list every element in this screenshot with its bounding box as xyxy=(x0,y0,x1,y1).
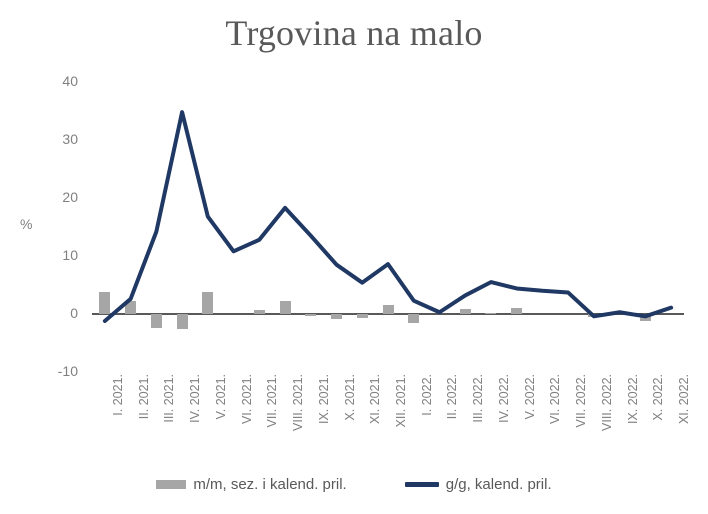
line-series-g-g xyxy=(92,82,684,372)
x-axis-tick-label: I. 2021. xyxy=(111,374,125,416)
chart-legend: m/m, sez. i kalend. pril.g/g, kalend. pr… xyxy=(0,476,708,493)
y-axis-tick-label: 20 xyxy=(32,189,78,205)
x-axis-tick-label: VII. 2022. xyxy=(574,374,588,428)
legend-line-swatch-icon xyxy=(405,482,439,487)
legend-item-label: g/g, kalend. pril. xyxy=(446,476,552,493)
x-axis-tick-label: IX. 2022. xyxy=(626,374,640,424)
x-axis-tick-label: XI. 2021. xyxy=(368,374,382,424)
legend-item[interactable]: m/m, sez. i kalend. pril. xyxy=(156,476,346,493)
x-axis-tick-label: II. 2022. xyxy=(445,374,459,419)
x-axis-tick-labels: I. 2021.II. 2021.III. 2021.IV. 2021.V. 2… xyxy=(92,374,684,470)
plot-area xyxy=(92,82,684,372)
x-axis-tick-label: XII. 2021. xyxy=(394,374,408,428)
x-axis-tick-label: IX. 2021. xyxy=(317,374,331,424)
x-axis-tick-label: X. 2021. xyxy=(343,374,357,421)
x-axis-tick-label: X. 2022. xyxy=(651,374,665,421)
x-axis-tick-label: VIII. 2021. xyxy=(291,374,305,431)
legend-item-label: m/m, sez. i kalend. pril. xyxy=(193,476,346,493)
x-axis-tick-label: VI. 2022. xyxy=(548,374,562,424)
chart-container: Trgovina na malo % 403020100-10 I. 2021.… xyxy=(0,0,708,514)
x-axis-tick-label: III. 2021. xyxy=(162,374,176,423)
y-axis-tick-label: 0 xyxy=(32,305,78,321)
y-axis-tick-label: 40 xyxy=(32,73,78,89)
x-axis-tick-label: I. 2022. xyxy=(420,374,434,416)
x-axis-tick-label: VI. 2021. xyxy=(240,374,254,424)
x-axis-tick-label: V. 2021. xyxy=(214,374,228,419)
x-axis-tick-label: XI. 2022. xyxy=(677,374,691,424)
x-axis-tick-label: VIII. 2022. xyxy=(600,374,614,431)
legend-item[interactable]: g/g, kalend. pril. xyxy=(405,476,552,493)
x-axis-tick-label: IV. 2022. xyxy=(497,374,511,423)
y-axis-unit-label: % xyxy=(20,216,32,232)
line-series-path xyxy=(105,112,671,321)
x-axis-tick-label: V. 2022. xyxy=(523,374,537,419)
legend-bar-swatch-icon xyxy=(156,480,186,489)
x-axis-tick-label: IV. 2021. xyxy=(188,374,202,423)
y-axis-tick-label: -10 xyxy=(32,363,78,379)
x-axis-tick-label: VII. 2021. xyxy=(265,374,279,428)
chart-title: Trgovina na malo xyxy=(0,12,708,54)
x-axis-tick-label: II. 2021. xyxy=(137,374,151,419)
x-axis-tick-label: III. 2022. xyxy=(471,374,485,423)
y-axis-tick-label: 10 xyxy=(32,247,78,263)
y-axis-tick-label: 30 xyxy=(32,131,78,147)
